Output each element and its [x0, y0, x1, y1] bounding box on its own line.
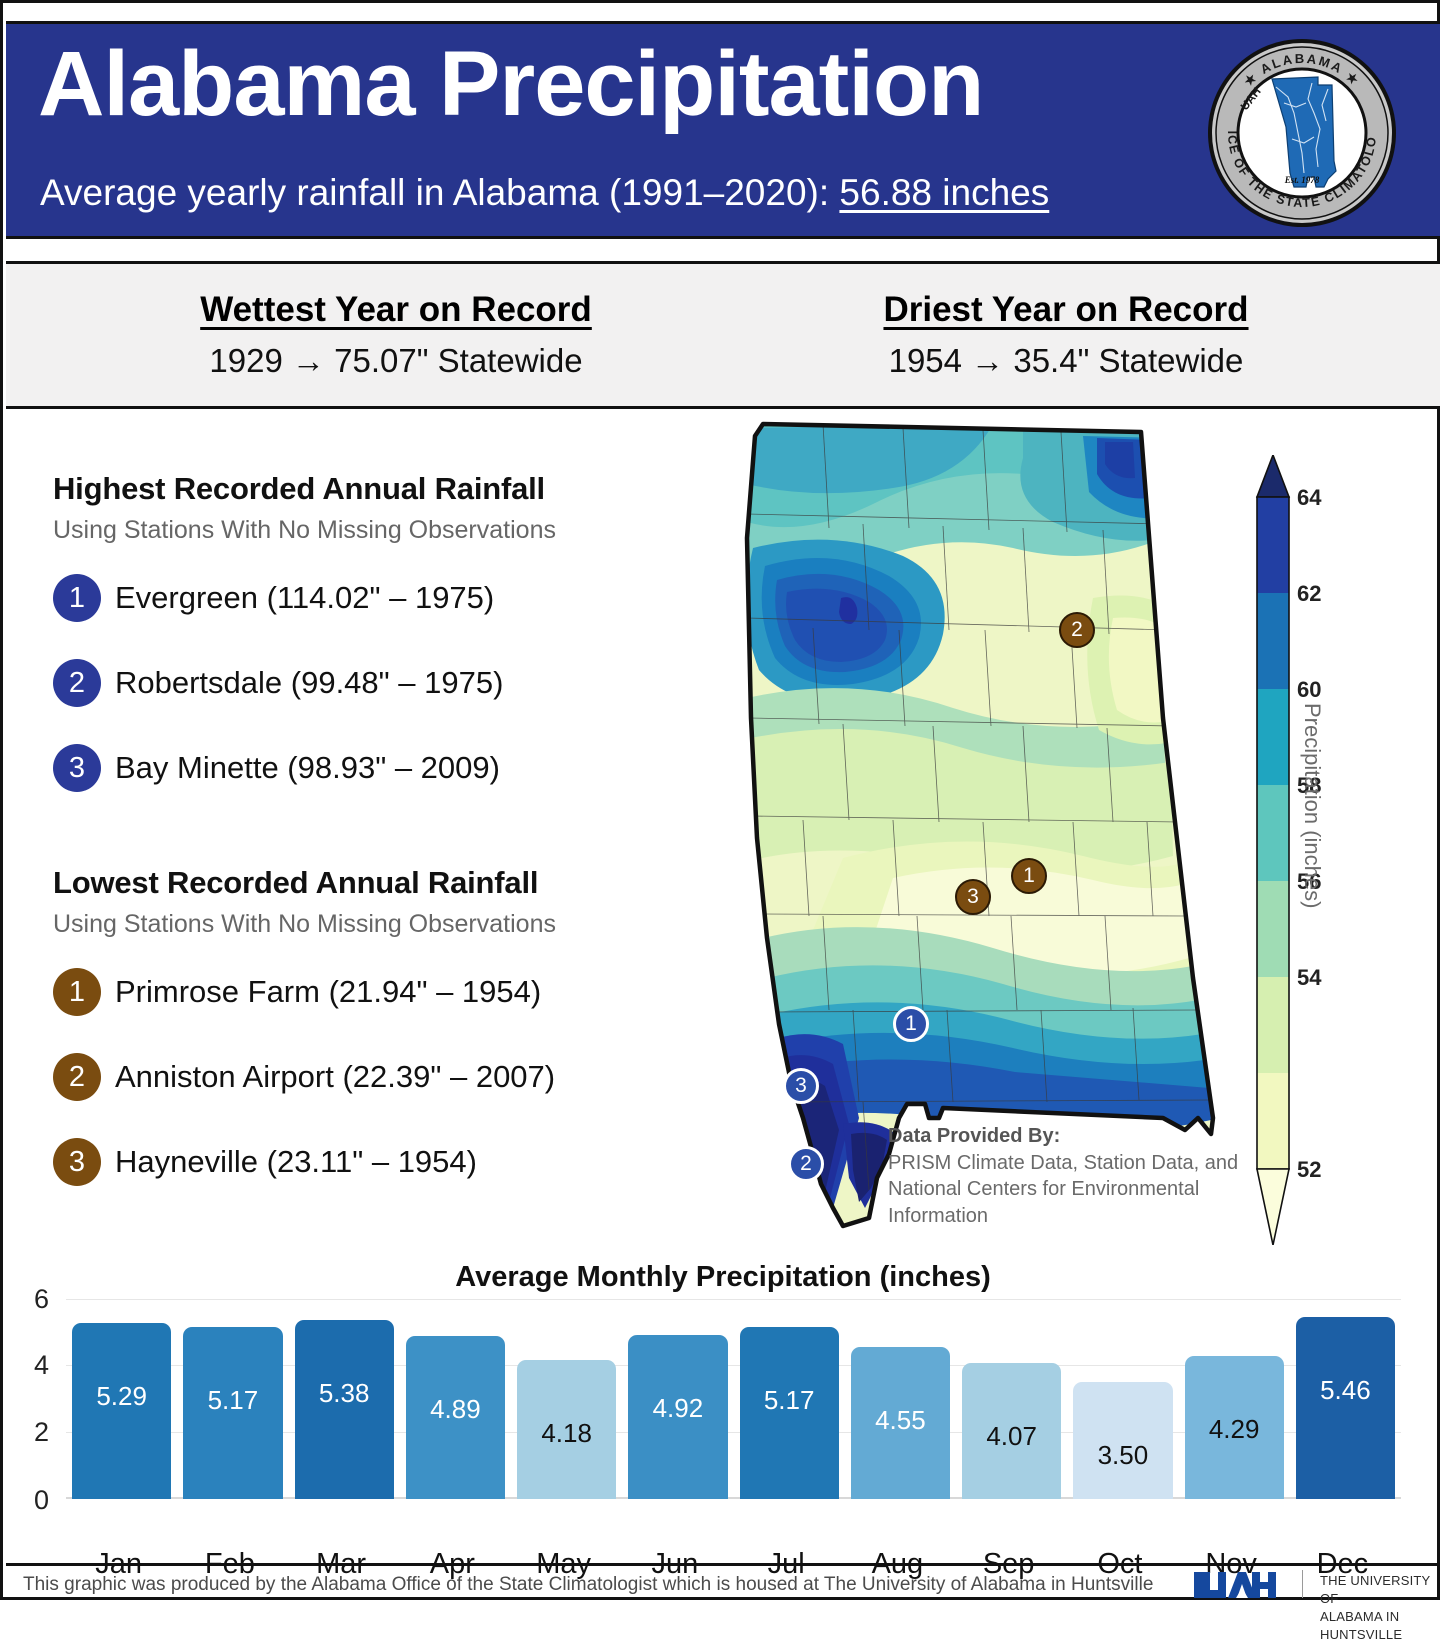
list-item: 3 Hayneville (23.11" – 1954)	[53, 1131, 713, 1193]
university-line-1: THE UNIVERSITY OF	[1320, 1572, 1440, 1608]
bar-cell-jul: 5.17	[734, 1299, 845, 1499]
list-item: 2 Anniston Airport (22.39" – 2007)	[53, 1046, 713, 1108]
bar-value-nov: 4.29	[1209, 1414, 1260, 1445]
infographic-page: Alabama Precipitation Average yearly rai…	[0, 0, 1440, 1600]
driest-year-stat: Driest Year on Record 1954 → 35.4" State…	[736, 290, 1396, 380]
bar-apr: 4.89	[406, 1336, 505, 1499]
bar-jul: 5.17	[740, 1327, 839, 1499]
wettest-year-value: 1929 → 75.07" Statewide	[66, 342, 726, 380]
bar-dec: 5.46	[1296, 1317, 1395, 1499]
colorbar-tick: 54	[1297, 965, 1321, 991]
bar-aug: 4.55	[851, 1347, 950, 1499]
bar-value-aug: 4.55	[875, 1405, 926, 1436]
data-credit-body: PRISM Climate Data, Station Data, and Na…	[888, 1150, 1248, 1229]
list-item: 1 Evergreen (114.02" – 1975)	[53, 567, 713, 629]
footer-bar: This graphic was produced by the Alabama…	[6, 1563, 1440, 1600]
footer-credit-text: This graphic was produced by the Alabama…	[23, 1574, 1153, 1596]
bar-value-may: 4.18	[541, 1418, 592, 1449]
list-item-label: Primrose Farm (21.94" – 1954)	[115, 974, 541, 1010]
colorbar-tick: 64	[1297, 485, 1321, 511]
chart-plot-area: 6 4 2 0 5.29 5.17 5.38	[66, 1299, 1401, 1499]
driest-year-title: Driest Year on Record	[883, 290, 1248, 330]
wettest-year-stat: Wettest Year on Record 1929 → 75.07" Sta…	[66, 290, 726, 380]
bar-jan: 5.29	[72, 1323, 171, 1499]
y-tick-label: 6	[34, 1286, 49, 1313]
map-marker-high-1: 1	[893, 1006, 929, 1042]
lowest-rainfall-list: 1 Primrose Farm (21.94" – 1954) 2 Annist…	[53, 961, 713, 1193]
bar-may: 4.18	[517, 1360, 616, 1499]
svg-text:Est. 1978: Est. 1978	[1284, 175, 1320, 185]
bar-cell-nov: 4.29	[1179, 1299, 1290, 1499]
lowest-rainfall-subtitle: Using Stations With No Missing Observati…	[53, 910, 713, 939]
bar-value-dec: 5.46	[1320, 1375, 1371, 1406]
colorbar-tick: 52	[1297, 1157, 1321, 1183]
rank-badge: 1	[53, 968, 101, 1016]
bar-cell-jun: 4.92	[622, 1299, 733, 1499]
list-item-label: Evergreen (114.02" – 1975)	[115, 580, 494, 616]
highest-rainfall-subtitle: Using Stations With No Missing Observati…	[53, 516, 713, 545]
bar-feb: 5.17	[183, 1327, 282, 1499]
bar-cell-jan: 5.29	[66, 1299, 177, 1499]
header-banner: Alabama Precipitation Average yearly rai…	[6, 21, 1440, 239]
bar-value-jul: 5.17	[764, 1385, 815, 1416]
bar-jun: 4.92	[628, 1335, 727, 1499]
list-item-label: Bay Minette (98.93" – 2009)	[115, 750, 500, 786]
records-band: Wettest Year on Record 1929 → 75.07" Sta…	[6, 261, 1440, 409]
chart-title: Average Monthly Precipitation (inches)	[6, 1261, 1440, 1294]
wettest-year-title: Wettest Year on Record	[200, 290, 592, 330]
lowest-rainfall-title: Lowest Recorded Annual Rainfall	[53, 865, 713, 901]
monthly-precipitation-chart: Average Monthly Precipitation (inches) 6…	[6, 1261, 1440, 1539]
header-subtitle-prefix: Average yearly rainfall in Alabama (1991…	[40, 172, 839, 213]
bar-cell-feb: 5.17	[177, 1299, 288, 1499]
bar-cell-may: 4.18	[511, 1299, 622, 1499]
bar-mar: 5.38	[295, 1320, 394, 1499]
highest-rainfall-section: Highest Recorded Annual Rainfall Using S…	[53, 471, 713, 822]
list-item-label: Hayneville (23.11" – 1954)	[115, 1144, 477, 1180]
lowest-rainfall-section: Lowest Recorded Annual Rainfall Using St…	[53, 865, 713, 1216]
rank-badge: 1	[53, 574, 101, 622]
data-credit-heading: Data Provided By:	[888, 1125, 1248, 1148]
colorbar-axis-label: Precipitation (inches)	[1299, 703, 1325, 908]
colorbar-tick: 62	[1297, 581, 1321, 607]
chart-bars: 5.29 5.17 5.38 4.89	[66, 1299, 1401, 1499]
bar-cell-apr: 4.89	[400, 1299, 511, 1499]
list-item-label: Robertsdale (99.48" – 1975)	[115, 665, 503, 701]
header-subtitle-value: 56.88 inches	[839, 172, 1049, 213]
alabama-precipitation-map: 1 2 3 1 2 3	[693, 418, 1253, 1248]
precipitation-colorbar	[1255, 455, 1291, 1245]
list-item: 3 Bay Minette (98.93" – 2009)	[53, 737, 713, 799]
bar-cell-sep: 4.07	[956, 1299, 1067, 1499]
map-marker-high-2: 2	[788, 1146, 824, 1182]
y-tick-label: 0	[34, 1487, 49, 1514]
map-marker-high-3: 3	[783, 1068, 819, 1104]
colorbar-tick: 60	[1297, 677, 1321, 703]
bar-value-feb: 5.17	[208, 1385, 259, 1416]
bar-cell-aug: 4.55	[845, 1299, 956, 1499]
map-marker-low-2: 2	[1059, 612, 1095, 648]
uah-logo-icon	[1192, 1568, 1284, 1602]
map-marker-low-1: 1	[1011, 858, 1047, 894]
bar-nov: 4.29	[1185, 1356, 1284, 1499]
bar-sep: 4.07	[962, 1363, 1061, 1499]
rank-badge: 2	[53, 1053, 101, 1101]
list-item-label: Anniston Airport (22.39" – 2007)	[115, 1059, 555, 1095]
bar-value-oct: 3.50	[1098, 1440, 1149, 1471]
university-line-2: ALABAMA IN HUNTSVILLE	[1320, 1608, 1440, 1644]
header-subtitle: Average yearly rainfall in Alabama (1991…	[40, 172, 1049, 214]
bar-value-apr: 4.89	[430, 1394, 481, 1425]
rank-badge: 3	[53, 744, 101, 792]
bar-value-sep: 4.07	[986, 1421, 1037, 1452]
y-tick-label: 4	[34, 1352, 49, 1379]
rank-badge: 2	[53, 659, 101, 707]
bar-value-jun: 4.92	[653, 1393, 704, 1424]
university-name: THE UNIVERSITY OF ALABAMA IN HUNTSVILLE	[1320, 1572, 1440, 1644]
list-item: 1 Primrose Farm (21.94" – 1954)	[53, 961, 713, 1023]
page-title: Alabama Precipitation	[38, 38, 983, 130]
list-item: 2 Robertsdale (99.48" – 1975)	[53, 652, 713, 714]
bar-cell-mar: 5.38	[289, 1299, 400, 1499]
bar-cell-dec: 5.46	[1290, 1299, 1401, 1499]
highest-rainfall-list: 1 Evergreen (114.02" – 1975) 2 Robertsda…	[53, 567, 713, 799]
map-marker-low-3: 3	[955, 879, 991, 915]
state-climatologist-seal-logo: ★ ALABAMA ★ OFFICE OF THE STATE CLIMATOL…	[1206, 37, 1398, 229]
bar-oct: 3.50	[1073, 1382, 1172, 1499]
rank-badge: 3	[53, 1138, 101, 1186]
driest-year-value: 1954 → 35.4" Statewide	[736, 342, 1396, 380]
bar-cell-oct: 3.50	[1067, 1299, 1178, 1499]
bar-value-mar: 5.38	[319, 1378, 370, 1409]
y-tick-label: 2	[34, 1419, 49, 1446]
footer-divider	[1302, 1570, 1303, 1598]
bar-value-jan: 5.29	[96, 1381, 147, 1412]
data-credit: Data Provided By: PRISM Climate Data, St…	[888, 1125, 1248, 1229]
highest-rainfall-title: Highest Recorded Annual Rainfall	[53, 471, 713, 507]
